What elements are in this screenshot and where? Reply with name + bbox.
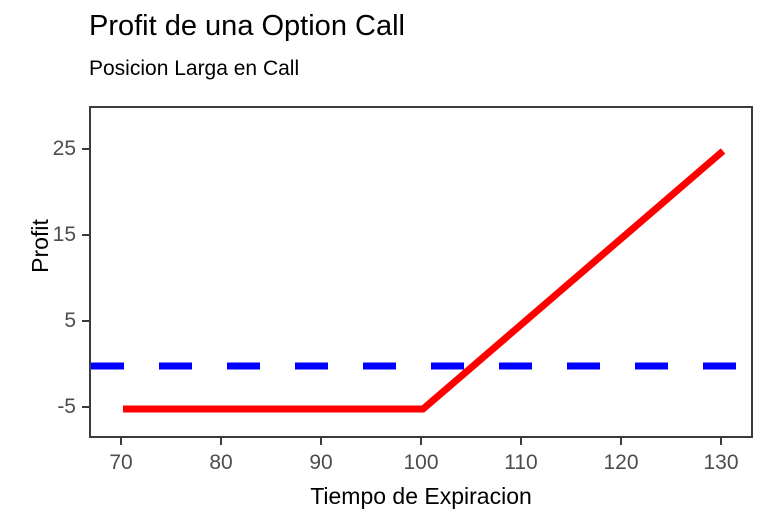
x-tick-mark [320, 438, 322, 445]
x-tick-mark [420, 438, 422, 445]
x-tick-label: 100 [381, 450, 461, 475]
x-tick-mark [720, 438, 722, 445]
x-tick-label: 110 [481, 450, 561, 475]
y-tick-mark [82, 234, 89, 236]
x-tick-label: 90 [281, 450, 361, 475]
x-tick-label: 70 [81, 450, 161, 475]
y-axis-title: Profit [26, 186, 54, 306]
chart-title: Profit de una Option Call [89, 8, 405, 44]
x-axis-title: Tiempo de Expiracion [89, 482, 753, 510]
y-tick-label: -5 [0, 394, 76, 419]
chart-figure: Profit de una Option Call Posicion Larga… [0, 0, 768, 528]
series-line-profit [123, 151, 723, 409]
y-tick-label: 5 [0, 308, 76, 333]
x-tick-label: 80 [181, 450, 261, 475]
chart-subtitle: Posicion Larga en Call [89, 55, 299, 82]
y-tick-label: 25 [0, 136, 76, 161]
x-tick-mark [220, 438, 222, 445]
plot-area-svg [91, 108, 753, 438]
x-tick-mark [620, 438, 622, 445]
x-tick-mark [120, 438, 122, 445]
y-tick-mark [82, 148, 89, 150]
x-tick-mark [520, 438, 522, 445]
y-tick-mark [82, 406, 89, 408]
x-tick-label: 130 [681, 450, 761, 475]
y-tick-mark [82, 320, 89, 322]
plot-panel [89, 106, 753, 438]
x-tick-label: 120 [581, 450, 661, 475]
